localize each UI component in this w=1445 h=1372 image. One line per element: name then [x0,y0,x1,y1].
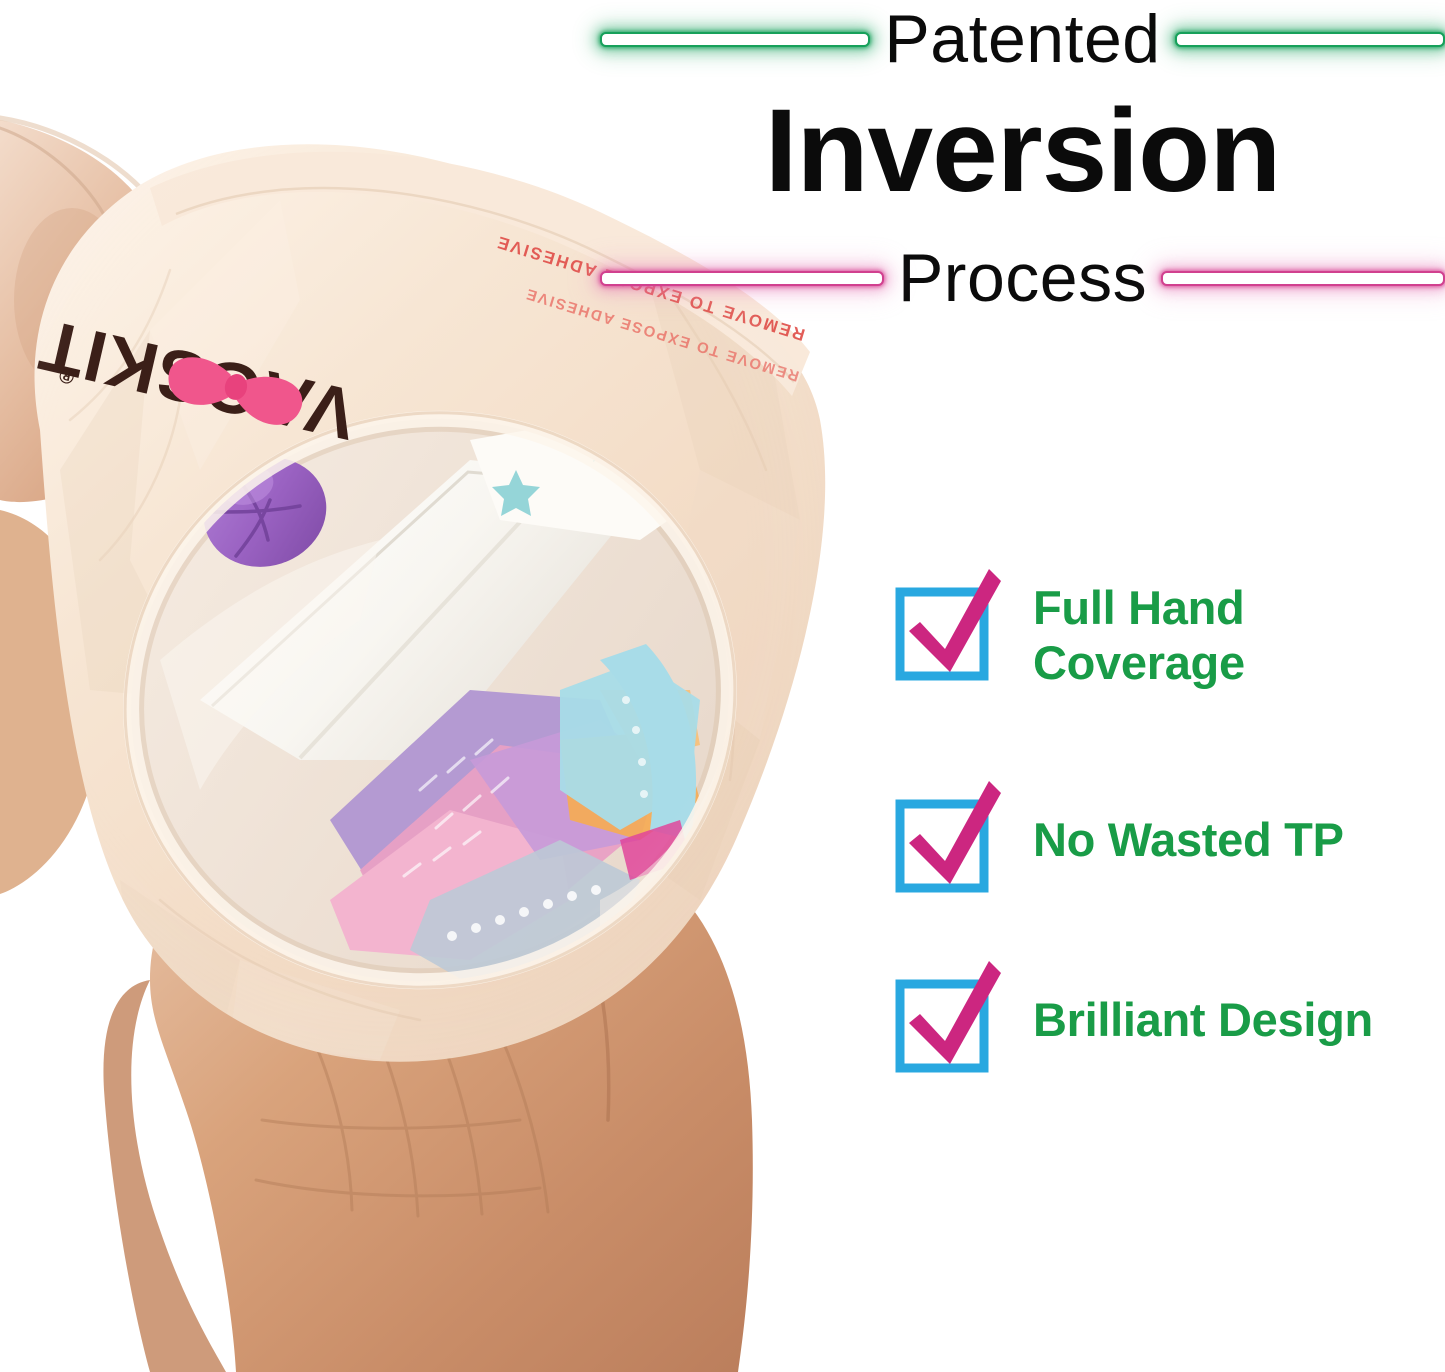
headline-process: Process [884,244,1161,312]
feature-item-no-wasted-tp: No Wasted TP [893,787,1344,895]
feature-item-brilliant-design: Brilliant Design [893,967,1373,1075]
feature-item-full-hand-coverage: Full Hand Coverage [893,575,1245,691]
headline-block: Patented Inversion Process [600,0,1445,320]
checked-checkbox-icon [893,575,1001,683]
feature-label: Brilliant Design [1033,967,1373,1048]
product-infographic: REMOVE TO EXPOSE ADHESIVE REMOVE TO EXPO… [0,0,1445,1372]
neon-rule-pink-left [600,271,884,286]
checked-checkbox-icon [893,967,1001,1075]
neon-rule-green-left [600,32,870,47]
neon-rule-green-right [1175,32,1445,47]
feature-label: No Wasted TP [1033,787,1344,868]
headline-inversion: Inversion [600,92,1445,210]
feature-label: Full Hand Coverage [1033,575,1245,691]
neon-rule-pink-right [1161,271,1445,286]
headline-row-patented: Patented [600,0,1445,78]
checked-checkbox-icon [893,787,1001,895]
headline-row-process: Process [600,238,1445,318]
headline-patented: Patented [870,5,1174,73]
